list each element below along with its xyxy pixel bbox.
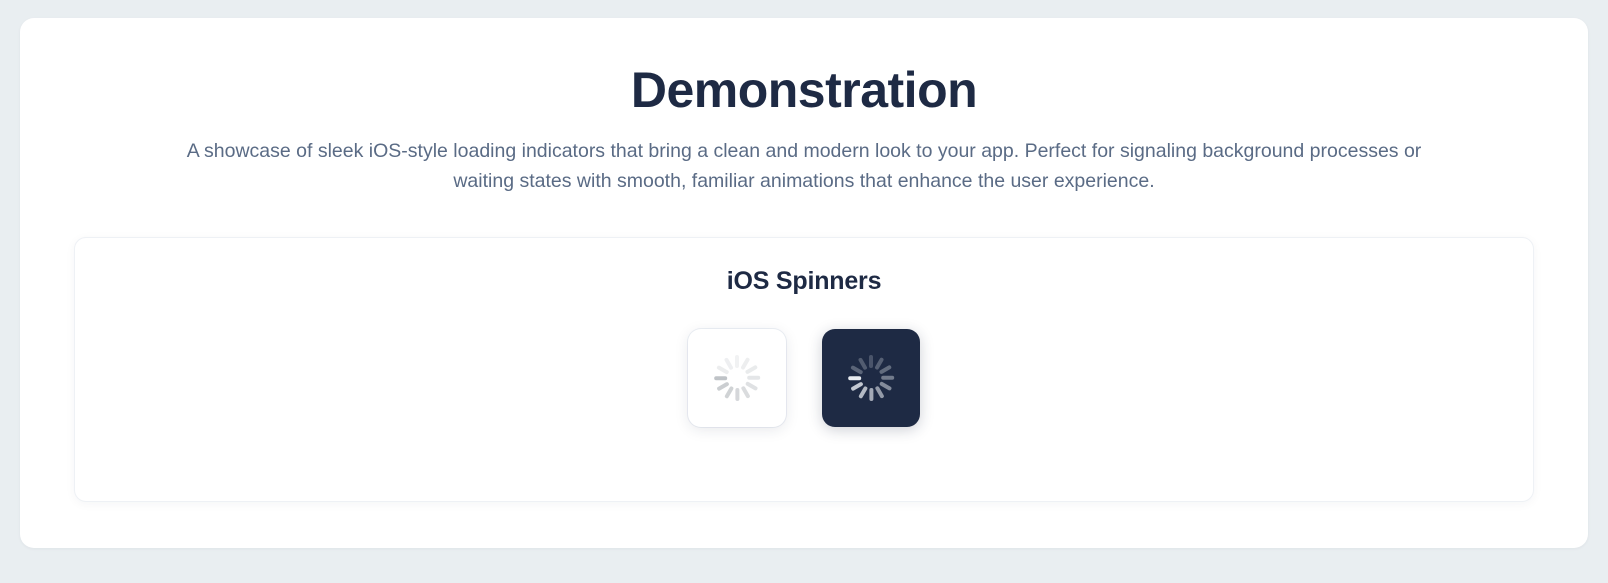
page-header: Demonstration A showcase of sleek iOS-st… <box>20 18 1588 196</box>
ios-spinner-icon <box>714 355 760 401</box>
panel-title: iOS Spinners <box>75 267 1533 296</box>
spinner-tile-row <box>75 329 1533 427</box>
page-title: Demonstration <box>20 62 1588 120</box>
page-subtitle: A showcase of sleek iOS-style loading in… <box>184 136 1424 196</box>
page-card: Demonstration A showcase of sleek iOS-st… <box>20 18 1588 548</box>
ios-spinners-panel: iOS Spinners <box>74 237 1534 502</box>
spinner-tile-dark[interactable] <box>822 329 920 427</box>
ios-spinner-icon <box>848 355 894 401</box>
spinner-tile-light[interactable] <box>688 329 786 427</box>
